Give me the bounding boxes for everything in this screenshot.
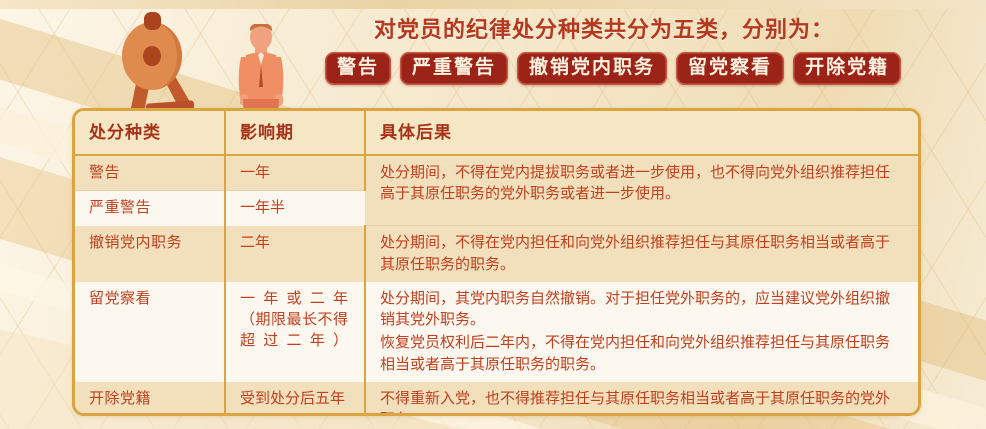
discipline-table: 处分种类 影响期 具体后果 警告 一年 处分期间，不得在党内提拔职务或者进一步使… xyxy=(72,108,921,416)
period-line-2: （期限最长不得超过二年） xyxy=(240,310,348,353)
table-row: 撤销党内职务 二年 处分期间，不得在党内担任和向党外组织推荐担任与其原任职务相当… xyxy=(75,226,918,282)
cell-kind: 留党察看 xyxy=(75,282,225,382)
consequence-paragraph: 不得重新入党，也不得推荐担任与其原任职务相当或者高于其原任职务的党外职务。 xyxy=(380,389,902,416)
table-row: 留党察看 一年或二年 （期限最长不得超过二年） 处分期间，其党内职务自然撤销。对… xyxy=(75,282,918,382)
cell-period: 一年或二年 （期限最长不得超过二年） xyxy=(225,282,365,382)
consequence-paragraph: 处分期间，其党内职务自然撤销。对于担任党外职务的，应当建议党外组织撤销其党外职务… xyxy=(380,289,902,332)
cell-kind: 撤销党内职务 xyxy=(75,226,225,282)
column-header-kind: 处分种类 xyxy=(75,111,225,155)
badge-probation[interactable]: 留党察看 xyxy=(676,52,784,85)
cell-consequence: 处分期间，不得在党内担任和向党外组织推荐担任与其原任职务相当或者高于其原任职务的… xyxy=(365,226,918,282)
cell-consequence: 处分期间，不得在党内提拔职务或者进一步使用，也不得向党外组织推荐担任高于其原任职… xyxy=(365,155,918,226)
cell-consequence: 不得重新入党，也不得推荐担任与其原任职务相当或者高于其原任职务的党外职务。 xyxy=(365,382,918,416)
column-header-consequence: 具体后果 xyxy=(365,111,918,155)
table-header-row: 处分种类 影响期 具体后果 xyxy=(75,111,918,155)
infographic-root: 对党员的纪律处分种类共分为五类，分别为： 警告 严重警告 撤销党内职务 留党察看… xyxy=(0,0,986,429)
cell-period: 一年半 xyxy=(225,191,365,226)
period-line-1: 一年或二年 xyxy=(240,289,348,310)
cell-period: 受到处分后五年 xyxy=(225,382,365,416)
cell-consequence: 处分期间，其党内职务自然撤销。对于担任党外职务的，应当建议党外组织撤销其党外职务… xyxy=(365,282,918,382)
column-header-period: 影响期 xyxy=(225,111,365,155)
table-row: 开除党籍 受到处分后五年 不得重新入党，也不得推荐担任与其原任职务相当或者高于其… xyxy=(75,382,918,416)
cell-kind: 开除党籍 xyxy=(75,382,225,416)
cell-period: 一年 xyxy=(225,155,365,191)
badge-serious-warning[interactable]: 严重警告 xyxy=(400,52,508,85)
discipline-type-badge-list: 警告 严重警告 撤销党内职务 留党察看 开除党籍 xyxy=(325,52,901,85)
badge-removal-post[interactable]: 撤销党内职务 xyxy=(517,52,667,85)
consequence-paragraph: 恢复党员权利后二年内，不得在党内担任和向党外组织推荐担任与其原任职务相当或者高于… xyxy=(380,333,902,376)
badge-expulsion[interactable]: 开除党籍 xyxy=(793,52,901,85)
page-title: 对党员的纪律处分种类共分为五类，分别为： xyxy=(374,12,834,44)
badge-warning[interactable]: 警告 xyxy=(325,52,391,85)
table-row: 警告 一年 处分期间，不得在党内提拔职务或者进一步使用，也不得向党外组织推荐担任… xyxy=(75,155,918,191)
cell-kind: 警告 xyxy=(75,155,225,191)
consequence-paragraph: 处分期间，不得在党内提拔职务或者进一步使用，也不得向党外组织推荐担任高于其原任职… xyxy=(380,163,902,206)
cell-kind: 严重警告 xyxy=(75,191,225,226)
cell-period: 二年 xyxy=(225,226,365,282)
consequence-paragraph: 处分期间，不得在党内担任和向党外组织推荐担任与其原任职务相当或者高于其原任职务的… xyxy=(380,233,902,276)
